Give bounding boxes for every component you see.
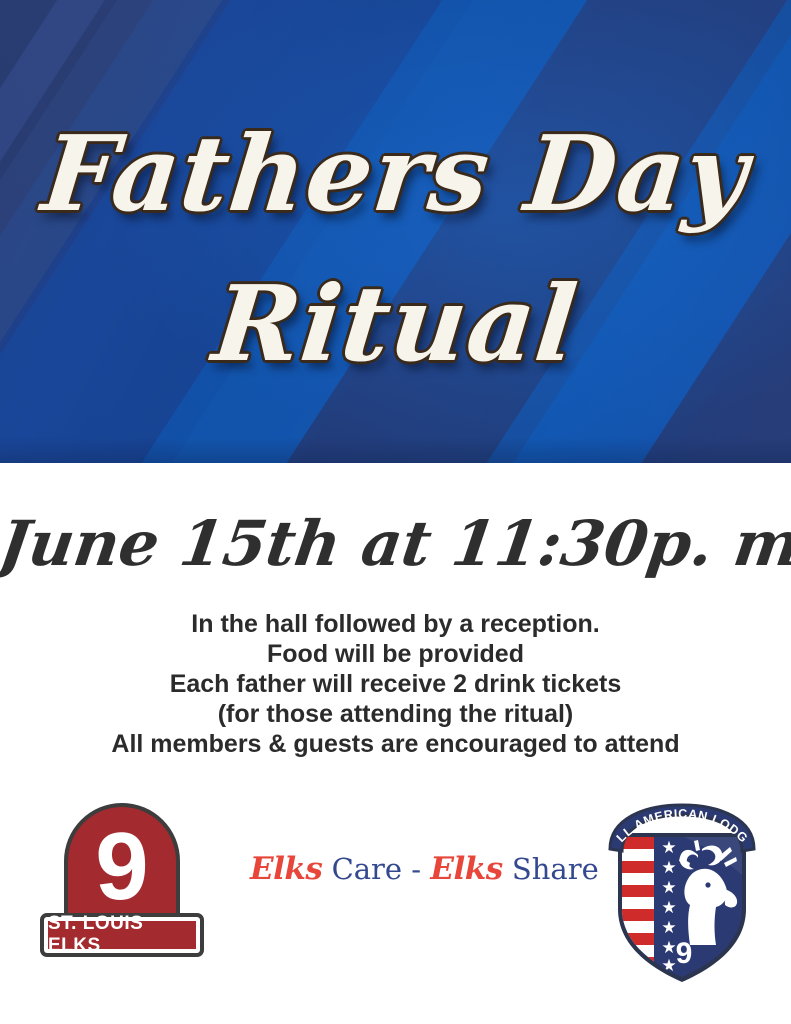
elks-care-elks-share-tagline: Elks Care - Elks Share: [250, 851, 550, 887]
arch-banner-label: ST. LOUIS ELKS: [48, 921, 196, 949]
body-area: June 15th at 11:30p. m. In the hall foll…: [0, 463, 791, 1024]
badge-lodge-number: 9: [676, 937, 693, 970]
arch-banner: ST. LOUIS ELKS: [40, 913, 204, 957]
flyer-title-line-1: Fathers Day: [0, 112, 791, 235]
event-date-time: June 15th at 11:30p. m.: [0, 507, 791, 580]
star-band: ★ ★ ★ ★ ★ ★ ★: [661, 838, 676, 976]
svg-text:★: ★: [661, 858, 676, 878]
logo-row: 9 ST. LOUIS ELKS Elks Care - Elks Share: [0, 803, 791, 1003]
header-banner: Fathers Day Ritual: [0, 0, 791, 463]
gateway-arch-icon: 9: [64, 803, 180, 928]
st-louis-elks-arch-logo: 9 ST. LOUIS ELKS: [38, 803, 206, 973]
detail-line: Food will be provided: [0, 639, 791, 669]
tagline-word-share: Share: [512, 852, 599, 886]
flyer-page: Fathers Day Ritual June 15th at 11:30p. …: [0, 0, 791, 1024]
all-american-lodge-badge: ★ ★ ★ ★ ★ ★ ★: [598, 801, 766, 986]
arch-lodge-number: 9: [68, 819, 176, 915]
svg-text:★: ★: [661, 898, 676, 918]
svg-text:★: ★: [661, 938, 676, 958]
svg-text:★: ★: [661, 838, 676, 858]
flyer-title-line-2: Ritual: [0, 262, 791, 385]
elk-eye: [705, 882, 710, 887]
tagline-word-care: Care: [332, 852, 403, 886]
svg-text:★: ★: [661, 918, 676, 938]
title-group: Fathers Day Ritual: [0, 0, 791, 463]
svg-text:★: ★: [661, 878, 676, 898]
detail-line: (for those attending the ritual): [0, 699, 791, 729]
tagline-word-elks-1: Elks: [250, 851, 322, 887]
tagline-word-elks-2: Elks: [430, 851, 502, 887]
event-details-block: In the hall followed by a reception. Foo…: [0, 609, 791, 759]
tagline-separator: -: [411, 852, 421, 886]
detail-line: All members & guests are encouraged to a…: [0, 729, 791, 759]
detail-line: In the hall followed by a reception.: [0, 609, 791, 639]
detail-line: Each father will receive 2 drink tickets: [0, 669, 791, 699]
